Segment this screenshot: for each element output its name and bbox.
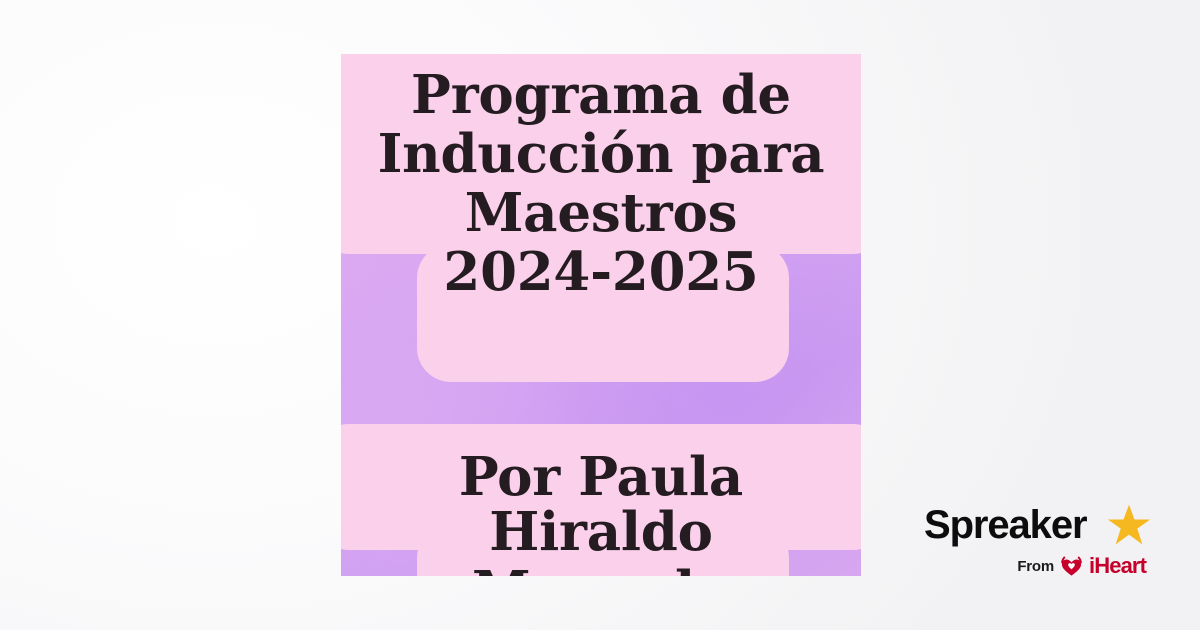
iheart-wordmark: iHeart [1089, 553, 1146, 579]
spreaker-logo[interactable]: Spreaker From iHeart [924, 503, 1150, 581]
podcast-cover-art: Programa de Inducción para Maestros 2024… [341, 54, 861, 576]
title-line-3: Maestros [341, 186, 861, 241]
author-line-1: Por Paula Hiraldo [341, 450, 861, 560]
author-line-2: Mercado [341, 564, 861, 576]
cover-text-group: Programa de Inducción para Maestros 2024… [341, 54, 861, 576]
cover-author: Por Paula Hiraldo Mercado [341, 450, 861, 576]
iheart-heart-icon [1059, 555, 1084, 577]
iheart-attribution: From iHeart [924, 553, 1150, 579]
from-label: From [1017, 558, 1054, 575]
title-line-2: Inducción para [341, 127, 861, 182]
title-line-4: 2024-2025 [341, 245, 861, 300]
cover-title: Programa de Inducción para Maestros 2024… [341, 68, 861, 304]
title-line-1: Programa de [341, 68, 861, 123]
star-icon [1106, 502, 1152, 548]
